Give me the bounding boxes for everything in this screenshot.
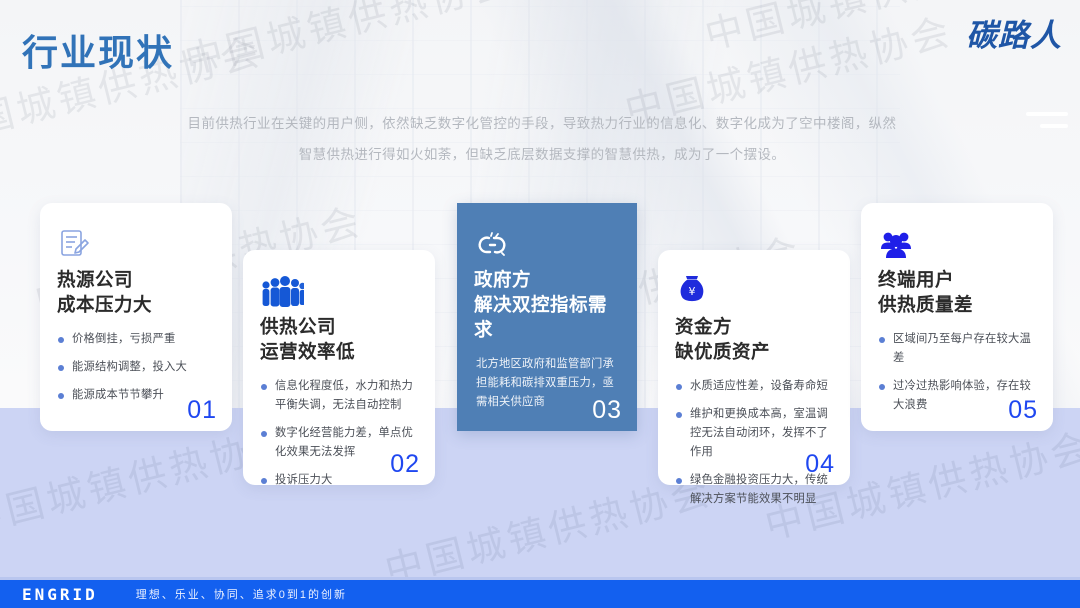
document-edit-icon: [57, 221, 215, 261]
footer-logo: ENGRID: [22, 585, 98, 604]
card-number: 04: [805, 450, 835, 479]
decorative-lines: [1026, 112, 1068, 128]
list-item: 能源结构调整，投入大: [57, 358, 215, 377]
card-bullet-list: 价格倒挂，亏损严重 能源结构调整，投入大 能源成本节节攀升: [57, 330, 215, 405]
list-item: 信息化程度低，水力和热力平衡失调，无法自动控制: [260, 377, 418, 415]
card-government[interactable]: 政府方 解决双控指标需求 北方地区政府和监管部门承担能耗和碳排双重压力，亟需相关…: [457, 203, 637, 431]
slide-root: 中国城镇供热协会 中国城镇供热协会 中国城镇供热协会 中国城镇供热协会 中国城镇…: [0, 0, 1080, 608]
card-title: 终端用户 供热质量差: [878, 267, 1036, 317]
svg-text:¥: ¥: [689, 285, 696, 298]
card-heating-company[interactable]: 供热公司 运营效率低 信息化程度低，水力和热力平衡失调，无法自动控制 数字化经营…: [243, 250, 435, 485]
card-heat-source-company[interactable]: 热源公司 成本压力大 价格倒挂，亏损严重 能源结构调整，投入大 能源成本节节攀升…: [40, 203, 232, 431]
card-number: 01: [187, 396, 217, 425]
list-item: 区域间乃至每户存在较大温差: [878, 330, 1036, 368]
decorative-line-long: [1026, 112, 1068, 116]
card-number: 02: [390, 450, 420, 479]
footer-bar: ENGRID 理想、乐业、协同、追求0到1的创新: [0, 580, 1080, 608]
footer-slogan: 理想、乐业、协同、追求0到1的创新: [136, 586, 347, 602]
card-end-users[interactable]: 终端用户 供热质量差 区域间乃至每户存在较大温差 过冷过热影响体验，存在较大浪费…: [861, 203, 1053, 431]
card-title: 热源公司 成本压力大: [57, 267, 215, 317]
card-number: 03: [592, 396, 622, 425]
page-title: 行业现状: [22, 24, 174, 76]
card-number: 05: [1008, 396, 1038, 425]
broken-link-icon: [474, 221, 620, 261]
money-bag-icon: ¥: [675, 268, 833, 308]
background-lower-band: [0, 408, 1080, 588]
card-title: 供热公司 运营效率低: [260, 314, 418, 364]
card-title: 政府方 解决双控指标需求: [474, 267, 620, 342]
people-group-icon: [260, 268, 418, 308]
list-item: 价格倒挂，亏损严重: [57, 330, 215, 349]
users-icon: [878, 221, 1036, 261]
card-title: 资金方 缺优质资产: [675, 314, 833, 364]
card-funding-party[interactable]: ¥ 资金方 缺优质资产 水质适应性差，设备寿命短 维护和更换成本高，室温调控无法…: [658, 250, 850, 485]
decorative-line-short: [1040, 124, 1068, 128]
intro-paragraph: 目前供热行业在关键的用户侧，依然缺乏数字化管控的手段，导致热力行业的信息化、数字…: [186, 108, 898, 170]
list-item: 水质适应性差，设备寿命短: [675, 377, 833, 396]
brand-logo: 碳路人: [966, 10, 1062, 55]
card-bullet-list: 水质适应性差，设备寿命短 维护和更换成本高，室温调控无法自动闭环，发挥不了作用 …: [675, 377, 833, 509]
